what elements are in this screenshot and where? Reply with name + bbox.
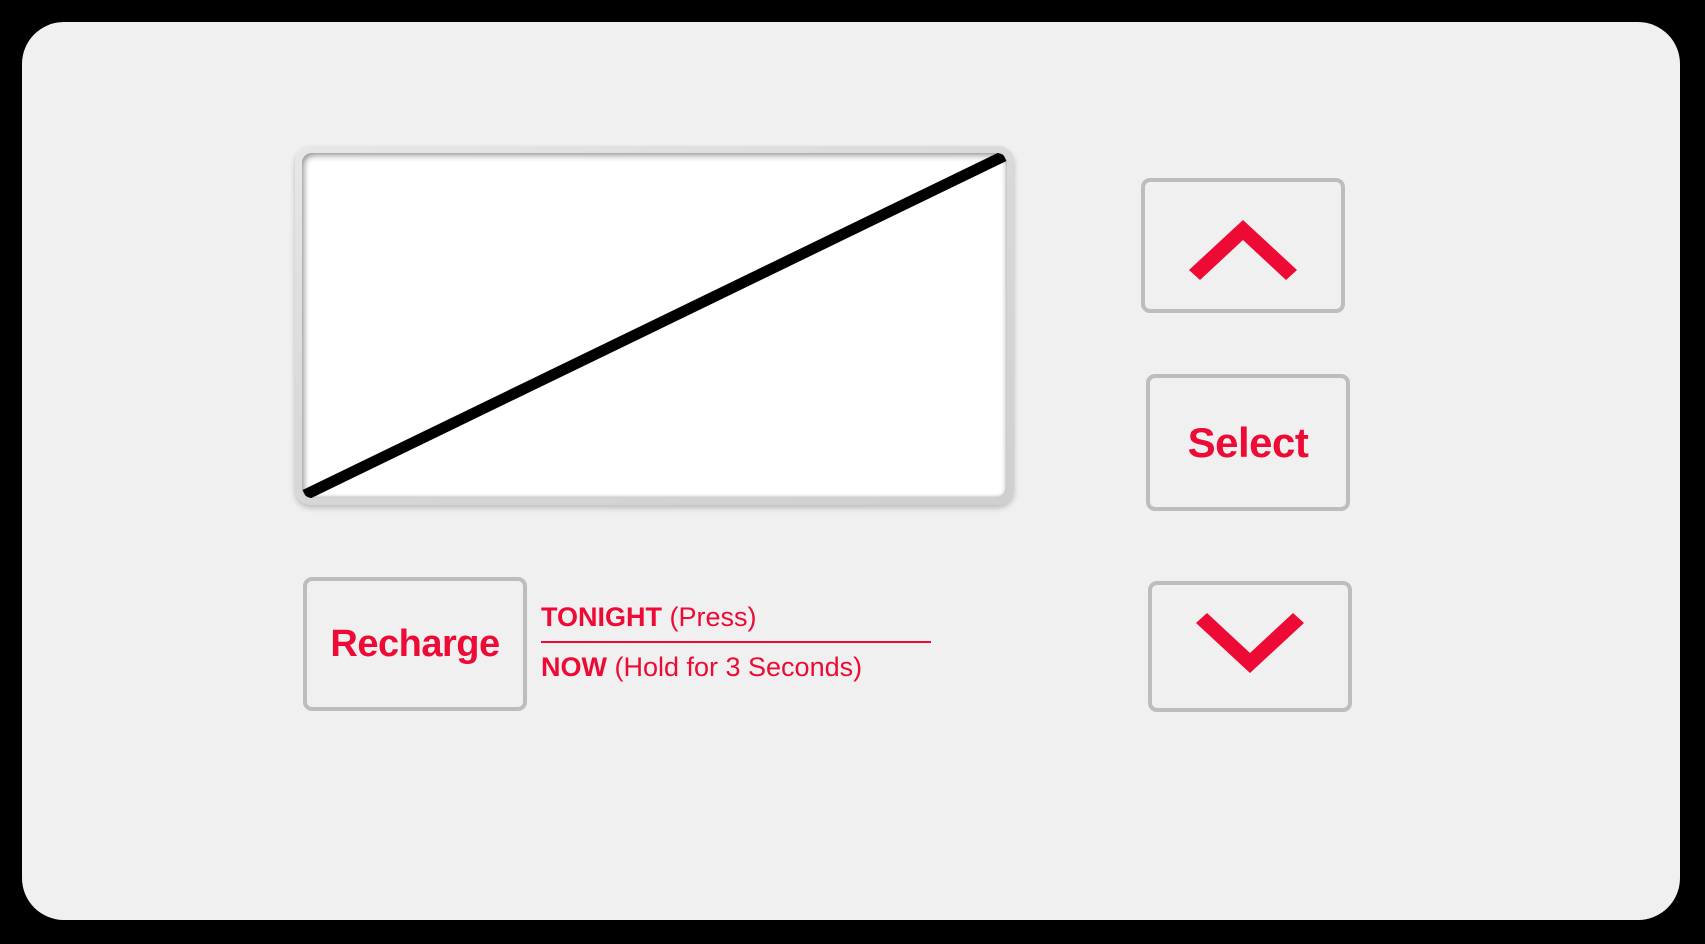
chevron-up-icon — [1183, 212, 1303, 280]
recharge-instructions: TONIGHT (Press) NOW (Hold for 3 Seconds) — [541, 594, 941, 690]
instruction-line-now: NOW (Hold for 3 Seconds) — [541, 644, 941, 690]
instruction-detail-press: (Press) — [662, 602, 757, 632]
recharge-button[interactable]: Recharge — [303, 577, 527, 711]
instruction-detail-hold: (Hold for 3 Seconds) — [607, 652, 862, 682]
recharge-button-label: Recharge — [330, 623, 499, 666]
display-bezel — [295, 146, 1014, 505]
instruction-keyword-now: NOW — [541, 652, 607, 682]
chevron-down-icon — [1190, 613, 1310, 681]
display-graphic-diagonal-line — [302, 153, 1007, 498]
select-button-label: Select — [1188, 419, 1309, 467]
control-panel: Recharge TONIGHT (Press) NOW (Hold for 3… — [22, 22, 1680, 920]
select-button[interactable]: Select — [1146, 374, 1350, 511]
lcd-display[interactable] — [302, 153, 1007, 498]
up-button[interactable] — [1141, 178, 1345, 313]
instruction-divider — [541, 641, 931, 643]
instruction-line-tonight: TONIGHT (Press) — [541, 594, 941, 640]
instruction-keyword-tonight: TONIGHT — [541, 602, 662, 632]
down-button[interactable] — [1148, 581, 1352, 712]
